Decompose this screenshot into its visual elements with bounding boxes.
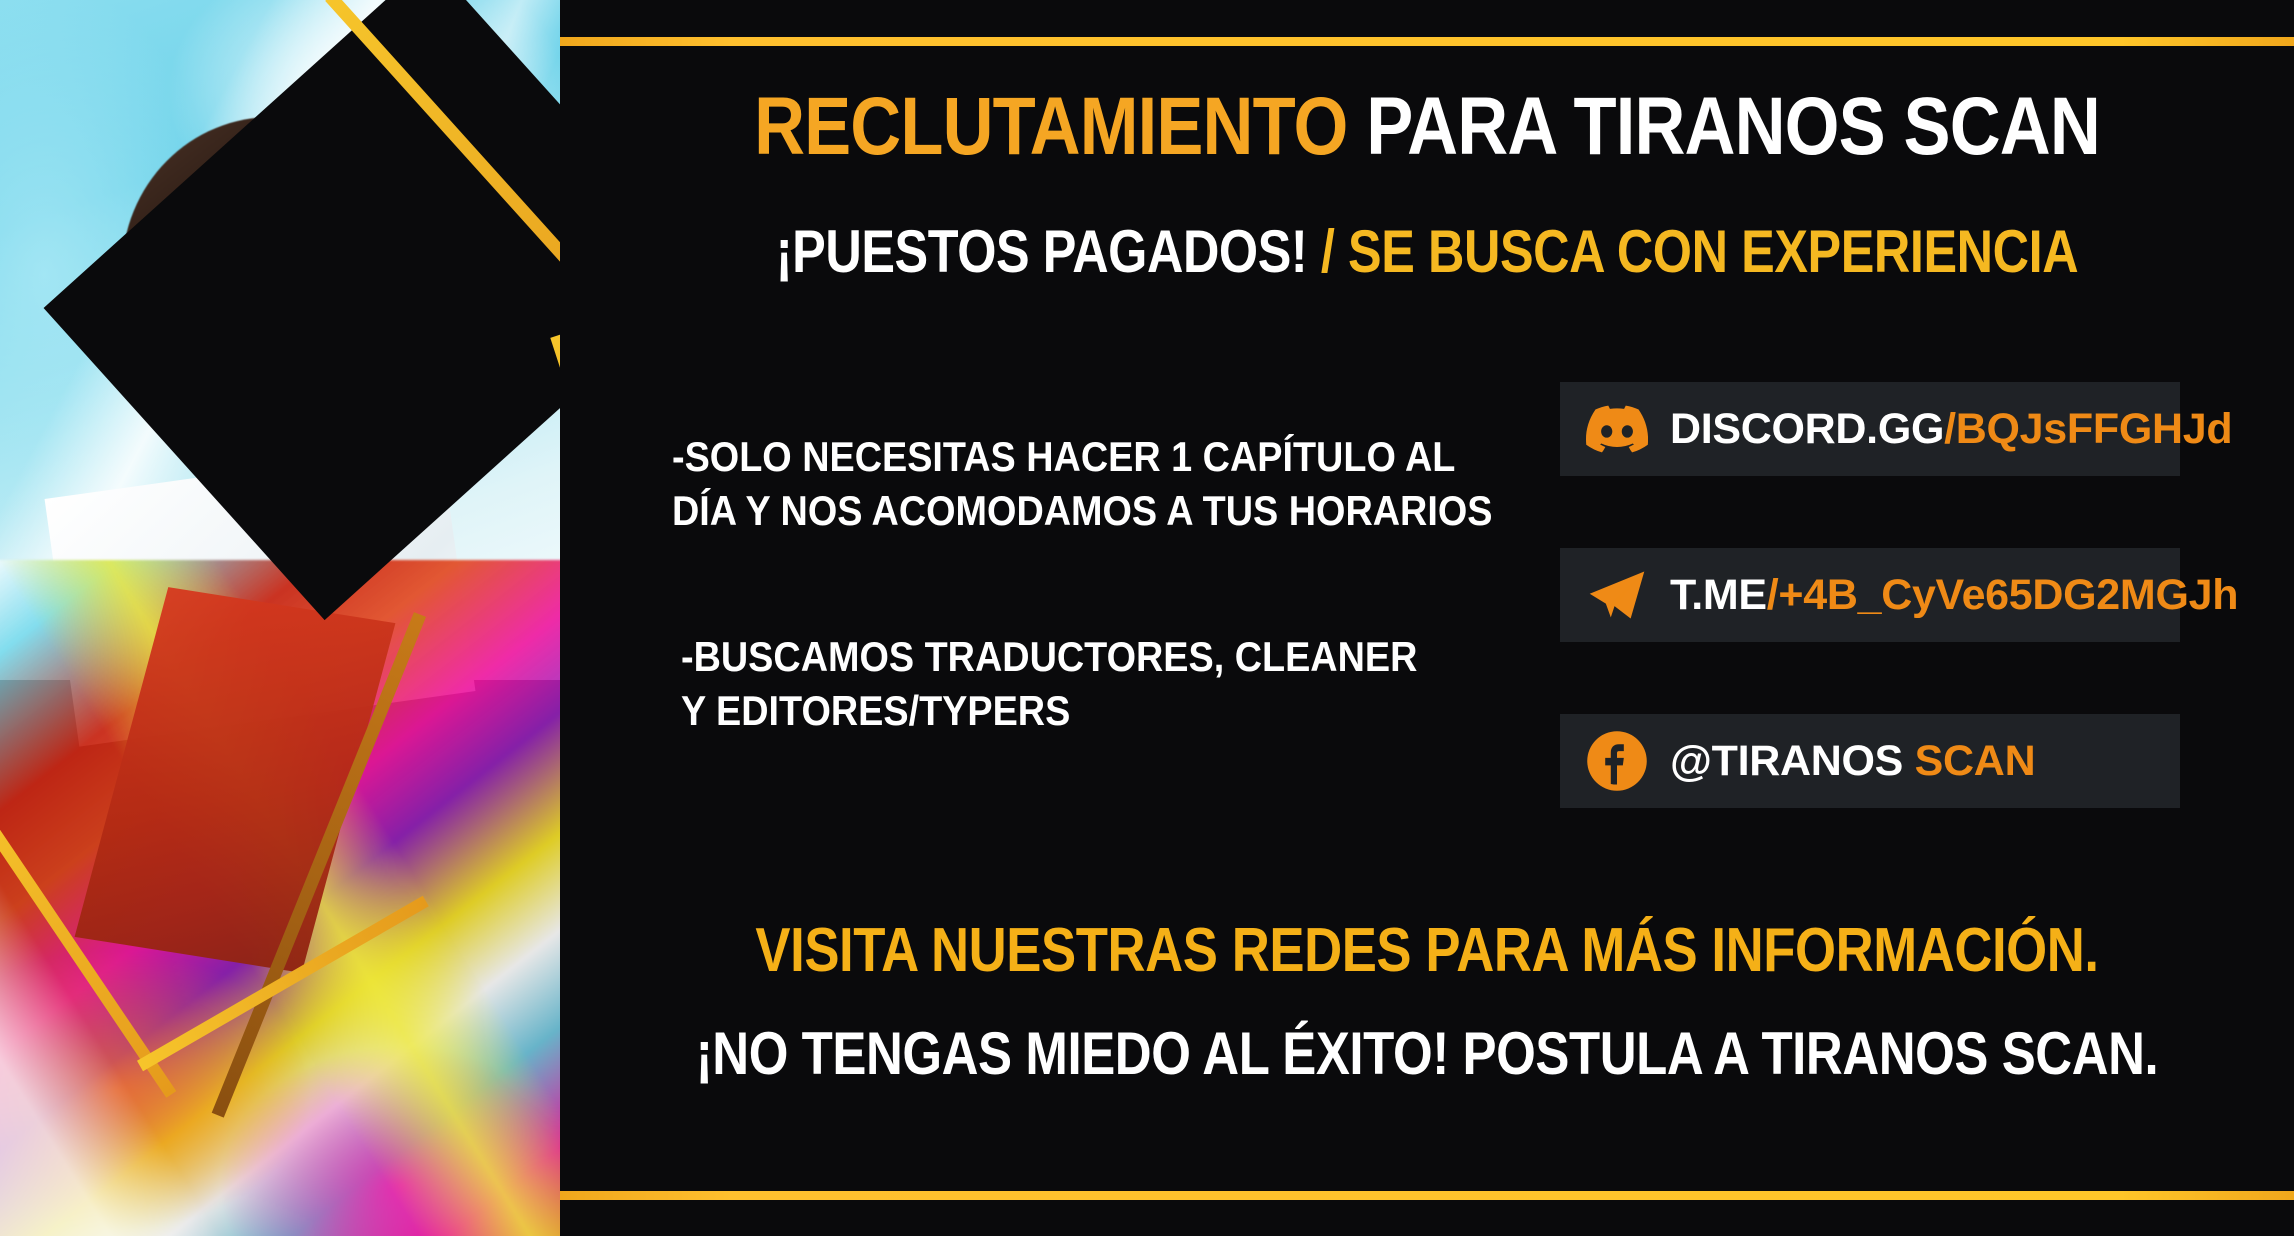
contact-list: DISCORD.GG/BQJsFFGHJd T.ME/+4B_CyVe65DG2… (1560, 382, 2180, 808)
telegram-icon (1586, 564, 1648, 626)
page-title: RECLUTAMIENTO PARA TIRANOS SCAN (681, 86, 2172, 168)
facebook-icon (1586, 730, 1648, 792)
requirements-block-roles: -BUSCAMOS TRADUCTORES, CLEANER Y EDITORE… (672, 630, 1248, 738)
subtitle-experience: / SE BUSCA CON EXPERIENCIA (1307, 218, 2078, 285)
subtitle-paid-positions: ¡PUESTOS PAGADOS! (776, 218, 1307, 285)
contact-discord[interactable]: DISCORD.GG/BQJsFFGHJd (1560, 382, 2180, 476)
headline-highlight: RECLUTAMIENTO (754, 81, 1347, 172)
contact-discord-handle: /BQJsFFGHJd (1944, 405, 2232, 453)
cta-line-apply: ¡NO TENGAS MIEDO AL ÉXITO! POSTULA A TIR… (690, 1024, 2164, 1084)
requirements-line: Y EDITORES/TYPERS (681, 684, 1248, 738)
headline-rest: PARA TIRANOS SCAN (1348, 81, 2100, 172)
recruitment-banner: RECLUTAMIENTO PARA TIRANOS SCAN ¡PUESTOS… (0, 0, 2294, 1236)
contact-telegram-text: T.ME/+4B_CyVe65DG2MGJh (1670, 574, 2238, 617)
contact-facebook-text: @TIRANOS SCAN (1670, 740, 2035, 783)
requirements-block-schedule: -SOLO NECESITAS HACER 1 CAPÍTULO AL DÍA … (672, 430, 1248, 538)
contact-telegram-handle: /+4B_CyVe65DG2MGJh (1767, 571, 2238, 619)
gold-rule-bottom (560, 1191, 2294, 1200)
requirements-line: -SOLO NECESITAS HACER 1 CAPÍTULO AL (672, 430, 1248, 484)
content-panel: RECLUTAMIENTO PARA TIRANOS SCAN ¡PUESTOS… (560, 0, 2294, 1236)
contact-telegram[interactable]: T.ME/+4B_CyVe65DG2MGJh (1560, 548, 2180, 642)
contact-discord-label: DISCORD.GG (1670, 405, 1944, 453)
cta-line-visit: VISITA NUESTRAS REDES PARA MÁS INFORMACI… (690, 920, 2164, 982)
call-to-action: VISITA NUESTRAS REDES PARA MÁS INFORMACI… (560, 920, 2294, 1084)
gold-rule-top (560, 37, 2294, 46)
requirements-line: DÍA Y NOS ACOMODAMOS A TUS HORARIOS (672, 484, 1248, 538)
artwork-panel (0, 0, 620, 1236)
requirements-line: -BUSCAMOS TRADUCTORES, CLEANER (681, 630, 1248, 684)
contact-facebook[interactable]: @TIRANOS SCAN (1560, 714, 2180, 808)
contact-facebook-label: @TIRANOS (1670, 737, 1903, 785)
page-subtitle: ¡PUESTOS PAGADOS! / SE BUSCA CON EXPERIE… (699, 222, 2156, 282)
contact-facebook-handle: SCAN (1903, 737, 2035, 785)
contact-telegram-label: T.ME (1670, 571, 1767, 619)
discord-icon (1586, 398, 1648, 460)
contact-discord-text: DISCORD.GG/BQJsFFGHJd (1670, 408, 2232, 451)
